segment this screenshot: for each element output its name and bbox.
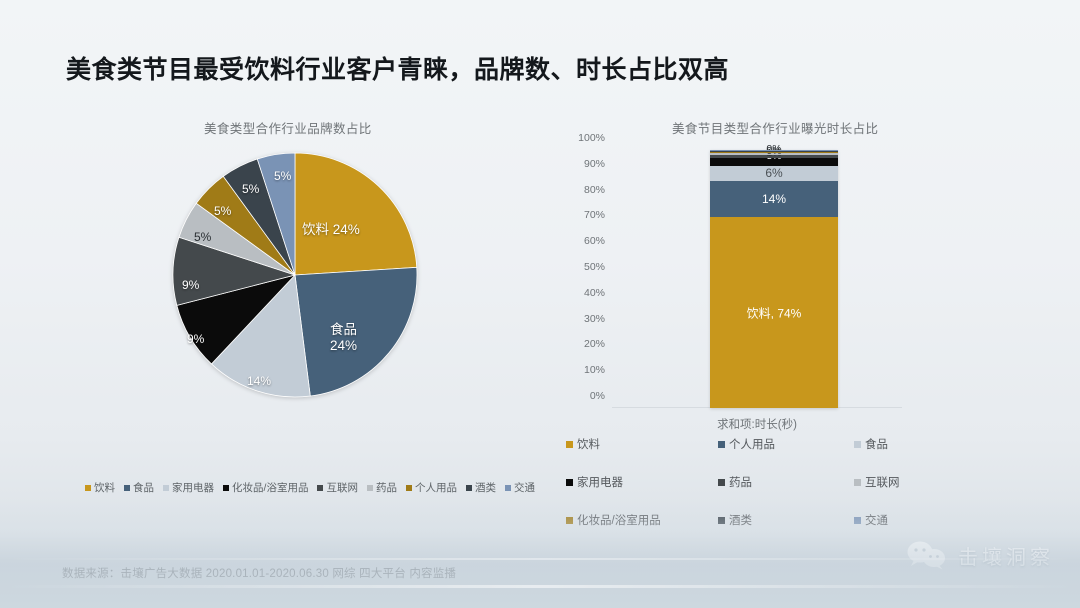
y-tick-label: 60% xyxy=(584,235,605,247)
bar-legend-label: 酒类 xyxy=(729,512,752,528)
wechat-icon xyxy=(906,540,948,570)
pie-legend-item[interactable]: 互联网 xyxy=(317,480,358,495)
pie-chart-panel: 饮料 24% 食品24% 14% 9% 9% 5% 5% 5% 5% 饮料食品家… xyxy=(40,140,550,500)
pie-legend-item[interactable]: 食品 xyxy=(124,480,154,495)
bar-segment-1[interactable]: 14% xyxy=(710,181,838,217)
bar-legend-label: 家用电器 xyxy=(577,474,623,490)
pie-slice-label-3: 9% xyxy=(187,333,204,347)
pie-chart: 饮料 24% 食品24% 14% 9% 9% 5% 5% 5% 5% xyxy=(170,150,420,400)
legend-swatch-icon xyxy=(854,441,861,448)
pie-slice-label-1-line1: 食品 xyxy=(330,322,357,337)
bar-legend-item[interactable]: 食品 xyxy=(854,436,974,452)
pie-slice-label-6: 5% xyxy=(214,205,231,219)
bar-legend-label: 药品 xyxy=(729,474,752,490)
bar-legend-label: 互联网 xyxy=(865,474,900,490)
y-tick-label: 40% xyxy=(584,287,605,299)
bar-legend-item[interactable]: 饮料 xyxy=(566,436,718,452)
stacked-bar: 饮料, 74%14%6%3%1%0%0% xyxy=(710,150,838,408)
bar-segment-6[interactable]: 0% xyxy=(710,151,838,152)
bar-legend-item[interactable]: 酒类 xyxy=(718,512,854,528)
bar-legend: 饮料个人用品食品家用电器药品互联网化妆品/浴室用品酒类交通 xyxy=(566,436,986,528)
pie-legend: 饮料食品家用电器化妆品/浴室用品互联网药品个人用品酒类交通 xyxy=(70,480,550,495)
pie-slice-label-7: 5% xyxy=(242,183,259,197)
legend-swatch-icon xyxy=(718,517,725,524)
bar-legend-item[interactable]: 交通 xyxy=(854,512,974,528)
legend-swatch-icon xyxy=(718,479,725,486)
pie-slice-label-0: 饮料 24% xyxy=(302,222,360,238)
pie-legend-label: 酒类 xyxy=(475,480,496,495)
legend-swatch-icon xyxy=(124,485,130,491)
bar-segment-label: 饮料, 74% xyxy=(710,304,838,321)
legend-swatch-icon xyxy=(854,479,861,486)
legend-swatch-icon xyxy=(85,485,91,491)
slide-canvas: 美食类节目最受饮料行业客户青睐，品牌数、时长占比双高 美食类型合作行业品牌数占比… xyxy=(0,0,1080,608)
bar-segment-2[interactable]: 6% xyxy=(710,166,838,181)
pie-chart-heading: 美食类型合作行业品牌数占比 xyxy=(204,118,372,137)
legend-swatch-icon xyxy=(223,485,229,491)
pie-legend-label: 个人用品 xyxy=(415,480,457,495)
legend-swatch-icon xyxy=(317,485,323,491)
bar-legend-label: 交通 xyxy=(865,512,888,528)
pie-chart-svg xyxy=(170,150,420,400)
pie-legend-item[interactable]: 酒类 xyxy=(466,480,496,495)
y-tick-label: 70% xyxy=(584,209,605,221)
bar-legend-item[interactable]: 互联网 xyxy=(854,474,974,490)
page-title: 美食类节目最受饮料行业客户青睐，品牌数、时长占比双高 xyxy=(66,50,729,86)
bar-legend-label: 个人用品 xyxy=(729,436,775,452)
x-axis-title: 求和项:时长(秒) xyxy=(612,416,902,432)
bar-segment-label: 14% xyxy=(710,192,838,206)
legend-swatch-icon xyxy=(505,485,511,491)
legend-swatch-icon xyxy=(367,485,373,491)
pie-legend-label: 饮料 xyxy=(94,480,115,495)
bar-chart-panel: 0%10%20%30%40%50%60%70%80%90%100% 饮料, 74… xyxy=(560,140,1040,520)
pie-slice-label-4: 9% xyxy=(182,279,199,293)
pie-legend-label: 食品 xyxy=(133,480,154,495)
pie-slice-label-5: 5% xyxy=(194,231,211,245)
legend-swatch-icon xyxy=(566,517,573,524)
legend-swatch-icon xyxy=(406,485,412,491)
pie-slice-label-8: 5% xyxy=(274,170,291,184)
legend-swatch-icon xyxy=(163,485,169,491)
y-tick-label: 0% xyxy=(590,390,605,402)
pie-legend-label: 家用电器 xyxy=(172,480,214,495)
bar-legend-item[interactable]: 家用电器 xyxy=(566,474,718,490)
pie-legend-item[interactable]: 家用电器 xyxy=(163,480,214,495)
bar-segment-8[interactable] xyxy=(710,150,838,151)
legend-swatch-icon xyxy=(854,517,861,524)
pie-slice-label-1-line2: 24% xyxy=(330,338,357,353)
legend-swatch-icon xyxy=(566,479,573,486)
y-tick-label: 10% xyxy=(584,364,605,376)
bar-legend-label: 饮料 xyxy=(577,436,600,452)
pie-legend-label: 互联网 xyxy=(326,480,358,495)
bar-legend-item[interactable]: 化妆品/浴室用品 xyxy=(566,512,718,528)
watermark: 击壤洞察 xyxy=(906,540,1054,570)
legend-swatch-icon xyxy=(718,441,725,448)
y-tick-label: 50% xyxy=(584,261,605,273)
legend-swatch-icon xyxy=(466,485,472,491)
y-tick-label: 90% xyxy=(584,158,605,170)
y-tick-label: 30% xyxy=(584,313,605,325)
bar-legend-item[interactable]: 药品 xyxy=(718,474,854,490)
pie-slice-label-2: 14% xyxy=(247,375,271,389)
source-note: 数据来源：击壤广告大数据 2020.01.01-2020.06.30 网综 四大… xyxy=(62,565,456,581)
pie-legend-label: 交通 xyxy=(514,480,535,495)
pie-legend-item[interactable]: 化妆品/浴室用品 xyxy=(223,480,308,495)
bar-plot-area: 0%10%20%30%40%50%60%70%80%90%100% 饮料, 74… xyxy=(612,150,902,408)
bar-segment-7[interactable] xyxy=(710,151,838,152)
pie-legend-label: 药品 xyxy=(376,480,397,495)
pie-legend-item[interactable]: 个人用品 xyxy=(406,480,457,495)
legend-swatch-icon xyxy=(566,441,573,448)
pie-legend-item[interactable]: 饮料 xyxy=(85,480,115,495)
pie-slice-label-1: 食品24% xyxy=(330,322,357,353)
bar-legend-label: 化妆品/浴室用品 xyxy=(577,512,661,528)
y-tick-label: 80% xyxy=(584,184,605,196)
pie-legend-label: 化妆品/浴室用品 xyxy=(232,480,308,495)
bar-legend-item[interactable]: 个人用品 xyxy=(718,436,854,452)
pie-legend-item[interactable]: 交通 xyxy=(505,480,535,495)
y-tick-label: 100% xyxy=(578,132,605,144)
bar-segment-0[interactable]: 饮料, 74% xyxy=(710,217,838,408)
bar-segment-label: 6% xyxy=(710,166,838,180)
y-tick-label: 20% xyxy=(584,338,605,350)
pie-slice-0[interactable] xyxy=(295,153,417,275)
pie-legend-item[interactable]: 药品 xyxy=(367,480,397,495)
bar-chart-heading: 美食节目类型合作行业曝光时长占比 xyxy=(672,118,878,137)
bar-legend-label: 食品 xyxy=(865,436,888,452)
watermark-text: 击壤洞察 xyxy=(958,541,1054,570)
